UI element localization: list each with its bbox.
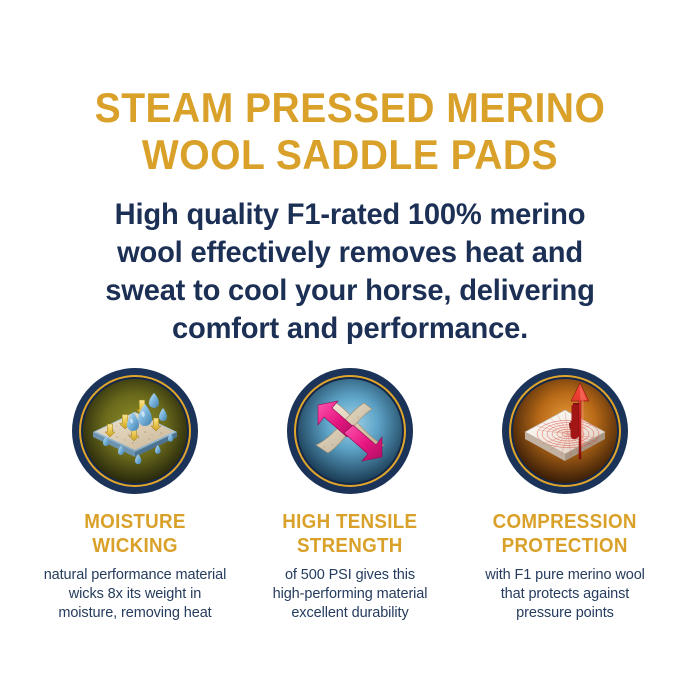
badge-compression-protection — [502, 368, 628, 494]
subhead-line-3: sweat to cool your horse, delivering — [11, 272, 690, 310]
feature-body-compression-protection: with F1 pure merino wool that protects a… — [485, 566, 645, 623]
feature-title-line-2: STRENGTH — [282, 534, 417, 558]
page-title: STEAM PRESSED MERINO WOOL SADDLE PADS — [25, 84, 676, 178]
feature-body-line-3: pressure points — [485, 604, 645, 623]
feature-body-moisture-wicking: natural performance material wicks 8x it… — [44, 566, 227, 623]
feature-body-line-1: of 500 PSI gives this — [273, 566, 428, 585]
subhead-line-2: wool effectively removes heat and — [11, 234, 690, 272]
feature-title-high-tensile-strength: HIGH TENSILE STRENGTH — [282, 510, 417, 558]
compression-protection-icon — [513, 379, 617, 483]
page-subtitle: High quality F1-rated 100% merino wool e… — [11, 196, 690, 348]
feature-title-line-1: COMPRESSION — [493, 510, 637, 534]
feature-title-line-1: HIGH TENSILE — [282, 510, 417, 534]
feature-compression-protection: COMPRESSION PROTECTION with F1 pure meri… — [458, 368, 673, 623]
feature-body-line-3: excellent durability — [273, 604, 428, 623]
subhead-line-4: comfort and performance. — [11, 310, 690, 348]
badge-high-tensile-strength — [287, 368, 413, 494]
feature-body-line-2: high-performing material — [273, 585, 428, 604]
subhead-line-1: High quality F1-rated 100% merino — [11, 196, 690, 234]
feature-body-line-1: natural performance material — [44, 566, 227, 585]
feature-body-high-tensile-strength: of 500 PSI gives this high-performing ma… — [273, 566, 428, 623]
headline-line-2: WOOL SADDLE PADS — [25, 131, 676, 178]
feature-moisture-wicking: MOISTURE WICKING natural performance mat… — [28, 368, 243, 623]
feature-title-compression-protection: COMPRESSION PROTECTION — [493, 510, 637, 558]
feature-title-line-2: WICKING — [84, 534, 185, 558]
feature-body-line-2: that protects against — [485, 585, 645, 604]
feature-title-line-2: PROTECTION — [493, 534, 637, 558]
feature-body-line-3: moisture, removing heat — [44, 604, 227, 623]
feature-body-line-1: with F1 pure merino wool — [485, 566, 645, 585]
feature-body-line-2: wicks 8x its weight in — [44, 585, 227, 604]
feature-title-line-1: MOISTURE — [84, 510, 185, 534]
high-tensile-strength-icon — [298, 379, 402, 483]
headline-line-1: STEAM PRESSED MERINO — [25, 84, 676, 131]
feature-list: MOISTURE WICKING natural performance mat… — [0, 368, 700, 623]
badge-moisture-wicking — [72, 368, 198, 494]
poster-root: STEAM PRESSED MERINO WOOL SADDLE PADS Hi… — [0, 0, 700, 700]
feature-high-tensile-strength: HIGH TENSILE STRENGTH of 500 PSI gives t… — [243, 368, 458, 623]
feature-title-moisture-wicking: MOISTURE WICKING — [84, 510, 185, 558]
moisture-wicking-icon — [83, 379, 187, 483]
